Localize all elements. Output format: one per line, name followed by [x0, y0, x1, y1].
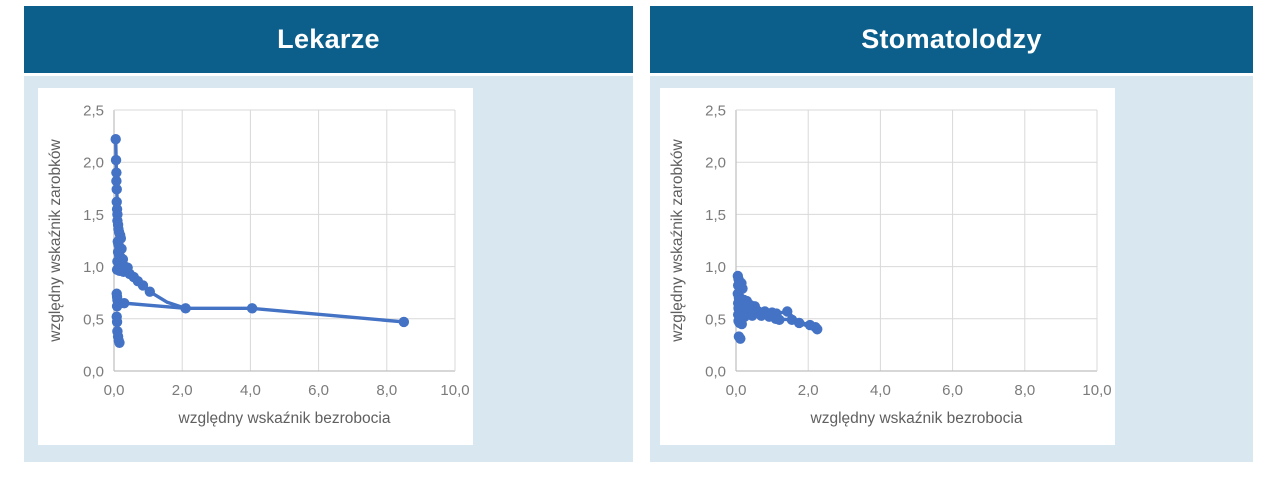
chart-card-lekarze: 0,00,51,01,52,02,50,02,04,06,08,010,0wzg…: [38, 88, 473, 445]
data-point: [111, 155, 121, 165]
y-tick-label: 1,0: [83, 259, 104, 276]
panel-lekarze: Lekarze 0,00,51,01,52,02,50,02,04,06,08,…: [0, 0, 640, 481]
x-axis-title: względny wskaźnik bezrobocia: [178, 410, 391, 427]
y-tick-label: 2,5: [705, 103, 726, 120]
y-tick-label: 2,0: [83, 155, 104, 172]
chart-card-stomatolodzy: 0,00,51,01,52,02,50,02,04,06,08,010,0wzg…: [660, 88, 1115, 445]
chart-lekarze: 0,00,51,01,52,02,50,02,04,06,08,010,0wzg…: [38, 88, 473, 445]
data-point: [399, 317, 409, 327]
y-tick-label: 0,5: [83, 311, 104, 328]
data-point: [180, 303, 190, 313]
data-point: [794, 318, 804, 328]
y-tick-label: 2,5: [83, 103, 104, 120]
data-point: [112, 184, 122, 194]
panel-title-lekarze: Lekarze: [277, 24, 380, 55]
x-tick-label: 8,0: [1014, 382, 1035, 399]
y-tick-label: 2,0: [705, 155, 726, 172]
data-point: [737, 319, 747, 329]
x-tick-label: 0,0: [104, 382, 125, 399]
y-tick-label: 1,0: [705, 259, 726, 276]
data-point: [735, 333, 745, 343]
x-tick-label: 10,0: [440, 382, 469, 399]
panel-header-lekarze: Lekarze: [24, 6, 633, 73]
data-point: [812, 324, 822, 334]
page-root: Lekarze 0,00,51,01,52,02,50,02,04,06,08,…: [0, 0, 1280, 481]
chart-lekarze-canvas: 0,00,51,01,52,02,50,02,04,06,08,010,0wzg…: [47, 103, 470, 428]
x-tick-label: 8,0: [376, 382, 397, 399]
chart-stomatolodzy-canvas: 0,00,51,01,52,02,50,02,04,06,08,010,0wzg…: [669, 103, 1112, 428]
x-tick-label: 6,0: [942, 382, 963, 399]
data-point: [145, 286, 155, 296]
x-tick-label: 6,0: [308, 382, 329, 399]
data-point: [112, 317, 122, 327]
panel-stomatolodzy: Stomatolodzy 0,00,51,01,52,02,50,02,04,0…: [640, 0, 1280, 481]
y-tick-label: 0,5: [705, 311, 726, 328]
data-point: [114, 338, 124, 348]
y-tick-label: 1,5: [83, 207, 104, 224]
y-axis-title: względny wskaźnik zarobków: [47, 138, 64, 342]
panel-container: Lekarze 0,00,51,01,52,02,50,02,04,06,08,…: [0, 0, 1280, 481]
x-tick-label: 2,0: [172, 382, 193, 399]
panel-body-lekarze: 0,00,51,01,52,02,50,02,04,06,08,010,0wzg…: [24, 76, 633, 462]
chart-stomatolodzy: 0,00,51,01,52,02,50,02,04,06,08,010,0wzg…: [660, 88, 1115, 445]
panel-body-stomatolodzy: 0,00,51,01,52,02,50,02,04,06,08,010,0wzg…: [650, 76, 1253, 462]
data-point: [111, 134, 121, 144]
x-tick-label: 10,0: [1082, 382, 1111, 399]
y-tick-label: 0,0: [705, 364, 726, 381]
data-point: [112, 301, 122, 311]
data-point: [247, 303, 257, 313]
data-point: [747, 310, 757, 320]
panel-header-stomatolodzy: Stomatolodzy: [650, 6, 1253, 73]
x-axis-title: względny wskaźnik bezrobocia: [810, 410, 1023, 427]
x-tick-label: 0,0: [726, 382, 747, 399]
y-tick-label: 1,5: [705, 207, 726, 224]
data-point: [774, 315, 784, 325]
x-tick-label: 2,0: [798, 382, 819, 399]
y-axis-title: względny wskaźnik zarobków: [669, 138, 686, 342]
x-tick-label: 4,0: [240, 382, 261, 399]
panel-title-stomatolodzy: Stomatolodzy: [861, 24, 1042, 55]
y-tick-label: 0,0: [83, 364, 104, 381]
x-tick-label: 4,0: [870, 382, 891, 399]
series-line-1: [116, 139, 404, 322]
